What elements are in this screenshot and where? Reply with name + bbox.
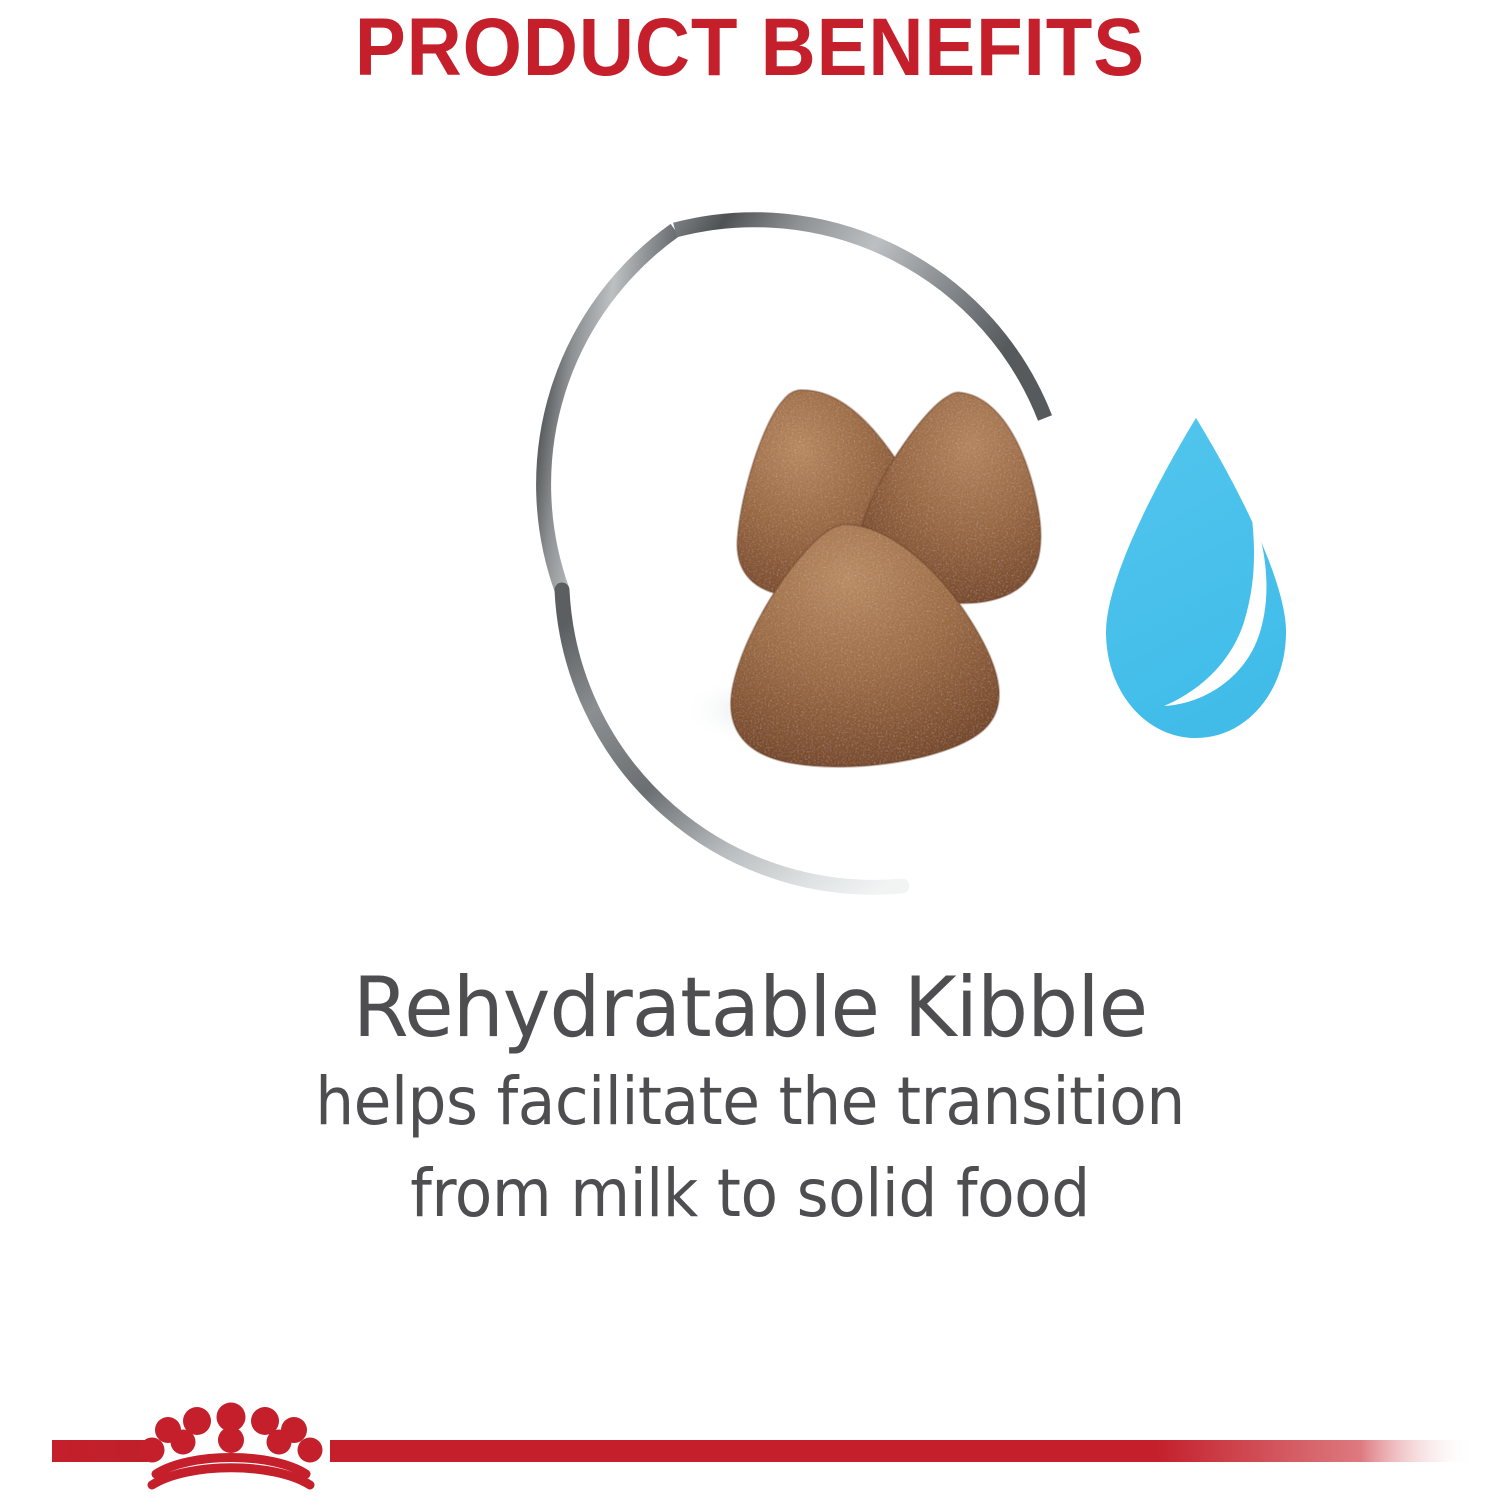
product-benefits-page: PRODUCT BENEFITS bbox=[0, 0, 1500, 1500]
caption-line-1: helps facilitate the transition bbox=[53, 1056, 1448, 1148]
caption-line-2: from milk to solid food bbox=[53, 1148, 1448, 1240]
kibble-pieces bbox=[717, 376, 1065, 771]
hero-graphic-svg bbox=[0, 170, 1500, 950]
footer-rule-left bbox=[52, 1440, 148, 1462]
footer-rule-right bbox=[330, 1440, 1475, 1462]
page-title: PRODUCT BENEFITS bbox=[53, 0, 1448, 96]
footer-brand-bar bbox=[0, 1390, 1500, 1500]
caption-block: Rehydratable Kibble helps facilitate the… bbox=[0, 960, 1500, 1240]
caption-title: Rehydratable Kibble bbox=[23, 960, 1478, 1056]
royal-canin-crown-logo bbox=[140, 1403, 323, 1486]
water-drop-icon bbox=[1106, 418, 1286, 738]
footer-svg bbox=[0, 1390, 1500, 1500]
hero-illustration bbox=[0, 170, 1500, 950]
